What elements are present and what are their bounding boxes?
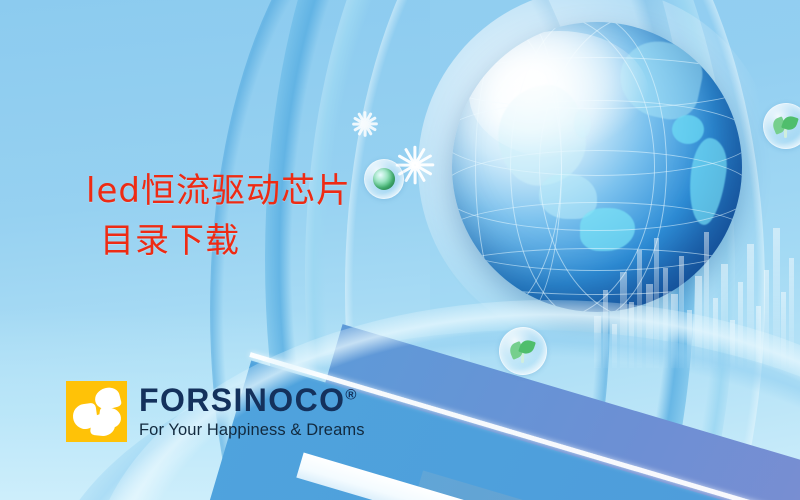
brand-name-text: FORSINOCO — [139, 382, 345, 418]
green-leaf-edge-icon — [772, 112, 799, 139]
headline-block: led恒流驱动芯片 目录下载 — [86, 166, 351, 267]
globe-highlight — [469, 31, 649, 159]
starburst-flower-small-icon — [351, 110, 379, 138]
headline-line-1: led恒流驱动芯片 — [86, 166, 351, 216]
bubble-leaf-icon — [499, 327, 547, 375]
brand-logo[interactable]: FORSINOCO® For Your Happiness & Dreams — [66, 381, 365, 442]
headline-line-2: 目录下载 — [86, 216, 351, 266]
logo-text-block: FORSINOCO® For Your Happiness & Dreams — [139, 381, 365, 439]
bubble-globe-icon — [364, 159, 404, 199]
green-globe-icon — [373, 168, 395, 190]
pinwheel-flower-icon — [66, 381, 127, 442]
registered-trademark-symbol: ® — [345, 386, 356, 403]
green-leaf-icon — [509, 337, 538, 366]
brand-name: FORSINOCO® — [139, 384, 365, 416]
promo-banner: led恒流驱动芯片 目录下载 FORSINOCO® For Your Happi… — [0, 0, 800, 500]
brand-tagline: For Your Happiness & Dreams — [139, 421, 365, 439]
